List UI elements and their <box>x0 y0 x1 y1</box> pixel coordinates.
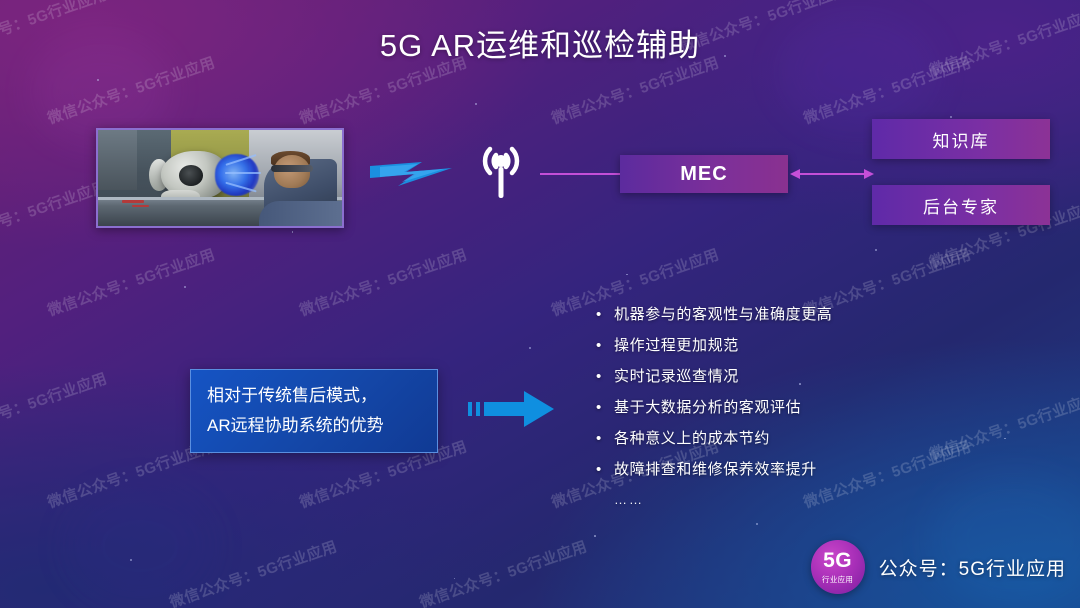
bullet-marker: • <box>596 337 614 355</box>
bullet-marker: • <box>596 306 614 324</box>
brand-account-text: 公众号：5G行业应用 <box>879 554 1066 581</box>
list-item-label: 操作过程更加规范 <box>614 337 739 355</box>
knowledge-base-node[interactable]: 知识库 <box>872 119 1050 159</box>
brand-logo-main: 5G <box>823 550 852 571</box>
watermark: 微信公众号：5G行业应用 <box>417 535 590 608</box>
list-item-label: 故障排查和维修保养效率提升 <box>614 461 817 479</box>
list-item: • 实时记录巡查情况 <box>596 368 896 386</box>
slide-title: 5G AR运维和巡检辅助 <box>0 20 1080 65</box>
list-item-label: 实时记录巡查情况 <box>614 368 739 386</box>
starfield-decoration <box>0 0 1080 608</box>
list-item: • 基于大数据分析的客观评估 <box>596 399 896 417</box>
list-item: • 机器参与的客观性与准确度更高 <box>596 306 896 324</box>
list-item: • 操作过程更加规范 <box>596 337 896 355</box>
wireless-tower-icon <box>466 138 536 202</box>
ar-technician-photo <box>96 128 344 228</box>
lightning-bolt-icon <box>368 152 454 194</box>
backend-expert-node[interactable]: 后台专家 <box>872 185 1050 225</box>
watermark: 微信公众号：5G行业应用 <box>297 243 470 320</box>
callout-line-1: 相对于传统售后模式， <box>207 381 421 411</box>
callout-line-2: AR远程协助系统的优势 <box>207 411 421 441</box>
watermark: 微信公众号：5G行业应用 <box>45 243 218 320</box>
list-item-label: …… <box>614 492 644 508</box>
bullet-marker: • <box>596 430 614 448</box>
watermark: 微信公众号：5G行业应用 <box>0 175 110 252</box>
connector-line-antenna-mec <box>540 173 622 175</box>
bullet-marker: • <box>596 368 614 386</box>
advantages-callout: 相对于传统售后模式， AR远程协助系统的优势 <box>190 369 438 453</box>
list-item: • 各种意义上的成本节约 <box>596 430 896 448</box>
list-item-label: 机器参与的客观性与准确度更高 <box>614 306 832 324</box>
slide-canvas: 微信公众号：5G行业应用 微信公众号：5G行业应用 微信公众号：5G行业应用 微… <box>0 0 1080 608</box>
bullet-marker: • <box>596 461 614 479</box>
list-item-label: 基于大数据分析的客观评估 <box>614 399 801 417</box>
watermark: 微信公众号：5G行业应用 <box>927 387 1080 464</box>
brand-logo-sub: 行业应用 <box>822 574 853 585</box>
brand-footer: 5G 行业应用 公众号：5G行业应用 <box>811 540 1066 594</box>
arrow-right-icon <box>466 385 556 433</box>
mec-node[interactable]: MEC <box>620 155 788 193</box>
watermark: 微信公众号：5G行业应用 <box>0 367 110 444</box>
watermark-layer: 微信公众号：5G行业应用 微信公众号：5G行业应用 微信公众号：5G行业应用 微… <box>0 0 1080 608</box>
watermark: 微信公众号：5G行业应用 <box>167 535 340 608</box>
bullet-marker: • <box>596 399 614 417</box>
brand-logo: 5G 行业应用 <box>811 540 865 594</box>
advantages-bullet-list: • 机器参与的客观性与准确度更高 • 操作过程更加规范 • 实时记录巡查情况 •… <box>596 306 896 521</box>
list-item: • 故障排查和维修保养效率提升 <box>596 461 896 479</box>
list-item-ellipsis: …… <box>596 492 896 508</box>
double-arrow-icon <box>790 163 874 185</box>
list-item-label: 各种意义上的成本节约 <box>614 430 770 448</box>
